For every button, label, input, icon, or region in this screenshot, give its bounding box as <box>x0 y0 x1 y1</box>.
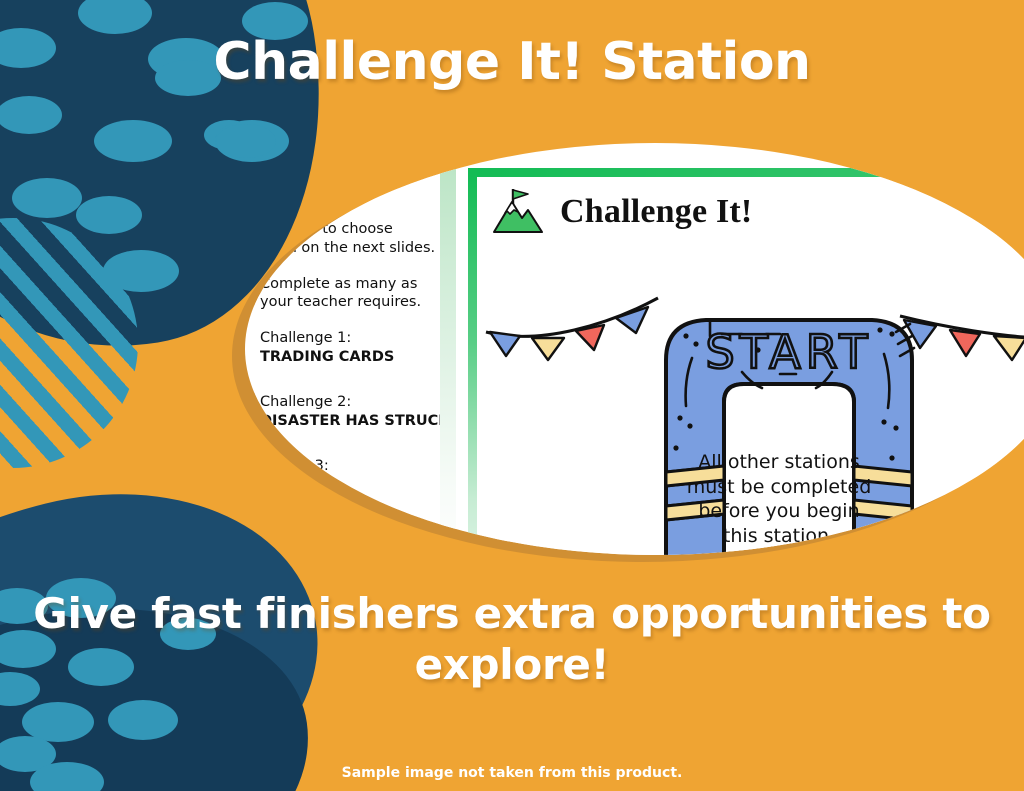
slide-panel-header: Challenge It! <box>492 188 752 236</box>
instruction-line-2: your teacher requires. <box>260 294 421 310</box>
slide-left-panel: ...e four ...enges to choose ...om on th… <box>255 168 455 555</box>
challenge-2-label: Challenge 2: <box>260 394 351 410</box>
challenge-1-label: Challenge 1: <box>260 330 351 346</box>
intro-paragraph: ...e four ...enges to choose ...om on th… <box>260 201 450 258</box>
intro-line-3: ...om on the next slides. <box>260 240 435 256</box>
slide-canvas: Challenge It! Station ...e four ...enges… <box>0 0 1024 791</box>
oval-screenshot-window: ...e four ...enges to choose ...om on th… <box>245 143 1024 555</box>
challenge-3-name: ...IT <box>260 476 292 492</box>
arch-caption-line-4: this station. <box>723 525 835 547</box>
disclaimer-text: Sample image not taken from this product… <box>0 765 1024 781</box>
arch-caption-line-1: All other stations <box>698 451 860 473</box>
page-title: Challenge It! Station <box>0 32 1024 92</box>
arch-caption-line-2: must be completed <box>687 476 872 498</box>
mountain-flag-icon <box>492 188 544 236</box>
embedded-slide: ...e four ...enges to choose ...om on th… <box>245 143 1024 555</box>
intro-line-2: ...enges to choose <box>260 221 393 237</box>
intro-line-1: ...e four <box>260 202 317 218</box>
tagline-text: Give fast finishers extra opportunities … <box>0 588 1024 690</box>
slide-panel-title: Challenge It! <box>560 193 752 231</box>
challenge-3-label: ...enge 3: <box>260 458 329 474</box>
instruction-line-1: Complete as many as <box>260 276 417 292</box>
challenge-2-name: DISASTER HAS STRUCK <box>260 413 450 429</box>
challenge-2-entry: Challenge 2: DISASTER HAS STRUCK <box>260 393 450 431</box>
challenge-1-name: TRADING CARDS <box>260 349 394 365</box>
instruction-paragraph: Complete as many as your teacher require… <box>260 275 450 313</box>
challenge-1-entry: Challenge 1: TRADING CARDS <box>260 329 450 367</box>
slide-left-panel-text: ...e four ...enges to choose ...om on th… <box>260 201 450 511</box>
challenge-3-entry: ...enge 3: ...IT <box>260 457 450 495</box>
arch-caption-text: All other stations must be completed bef… <box>676 450 882 549</box>
arch-caption-line-3: before you begin <box>698 500 859 522</box>
striped-circle-decoration <box>0 218 138 468</box>
green-divider-strip <box>440 168 456 555</box>
